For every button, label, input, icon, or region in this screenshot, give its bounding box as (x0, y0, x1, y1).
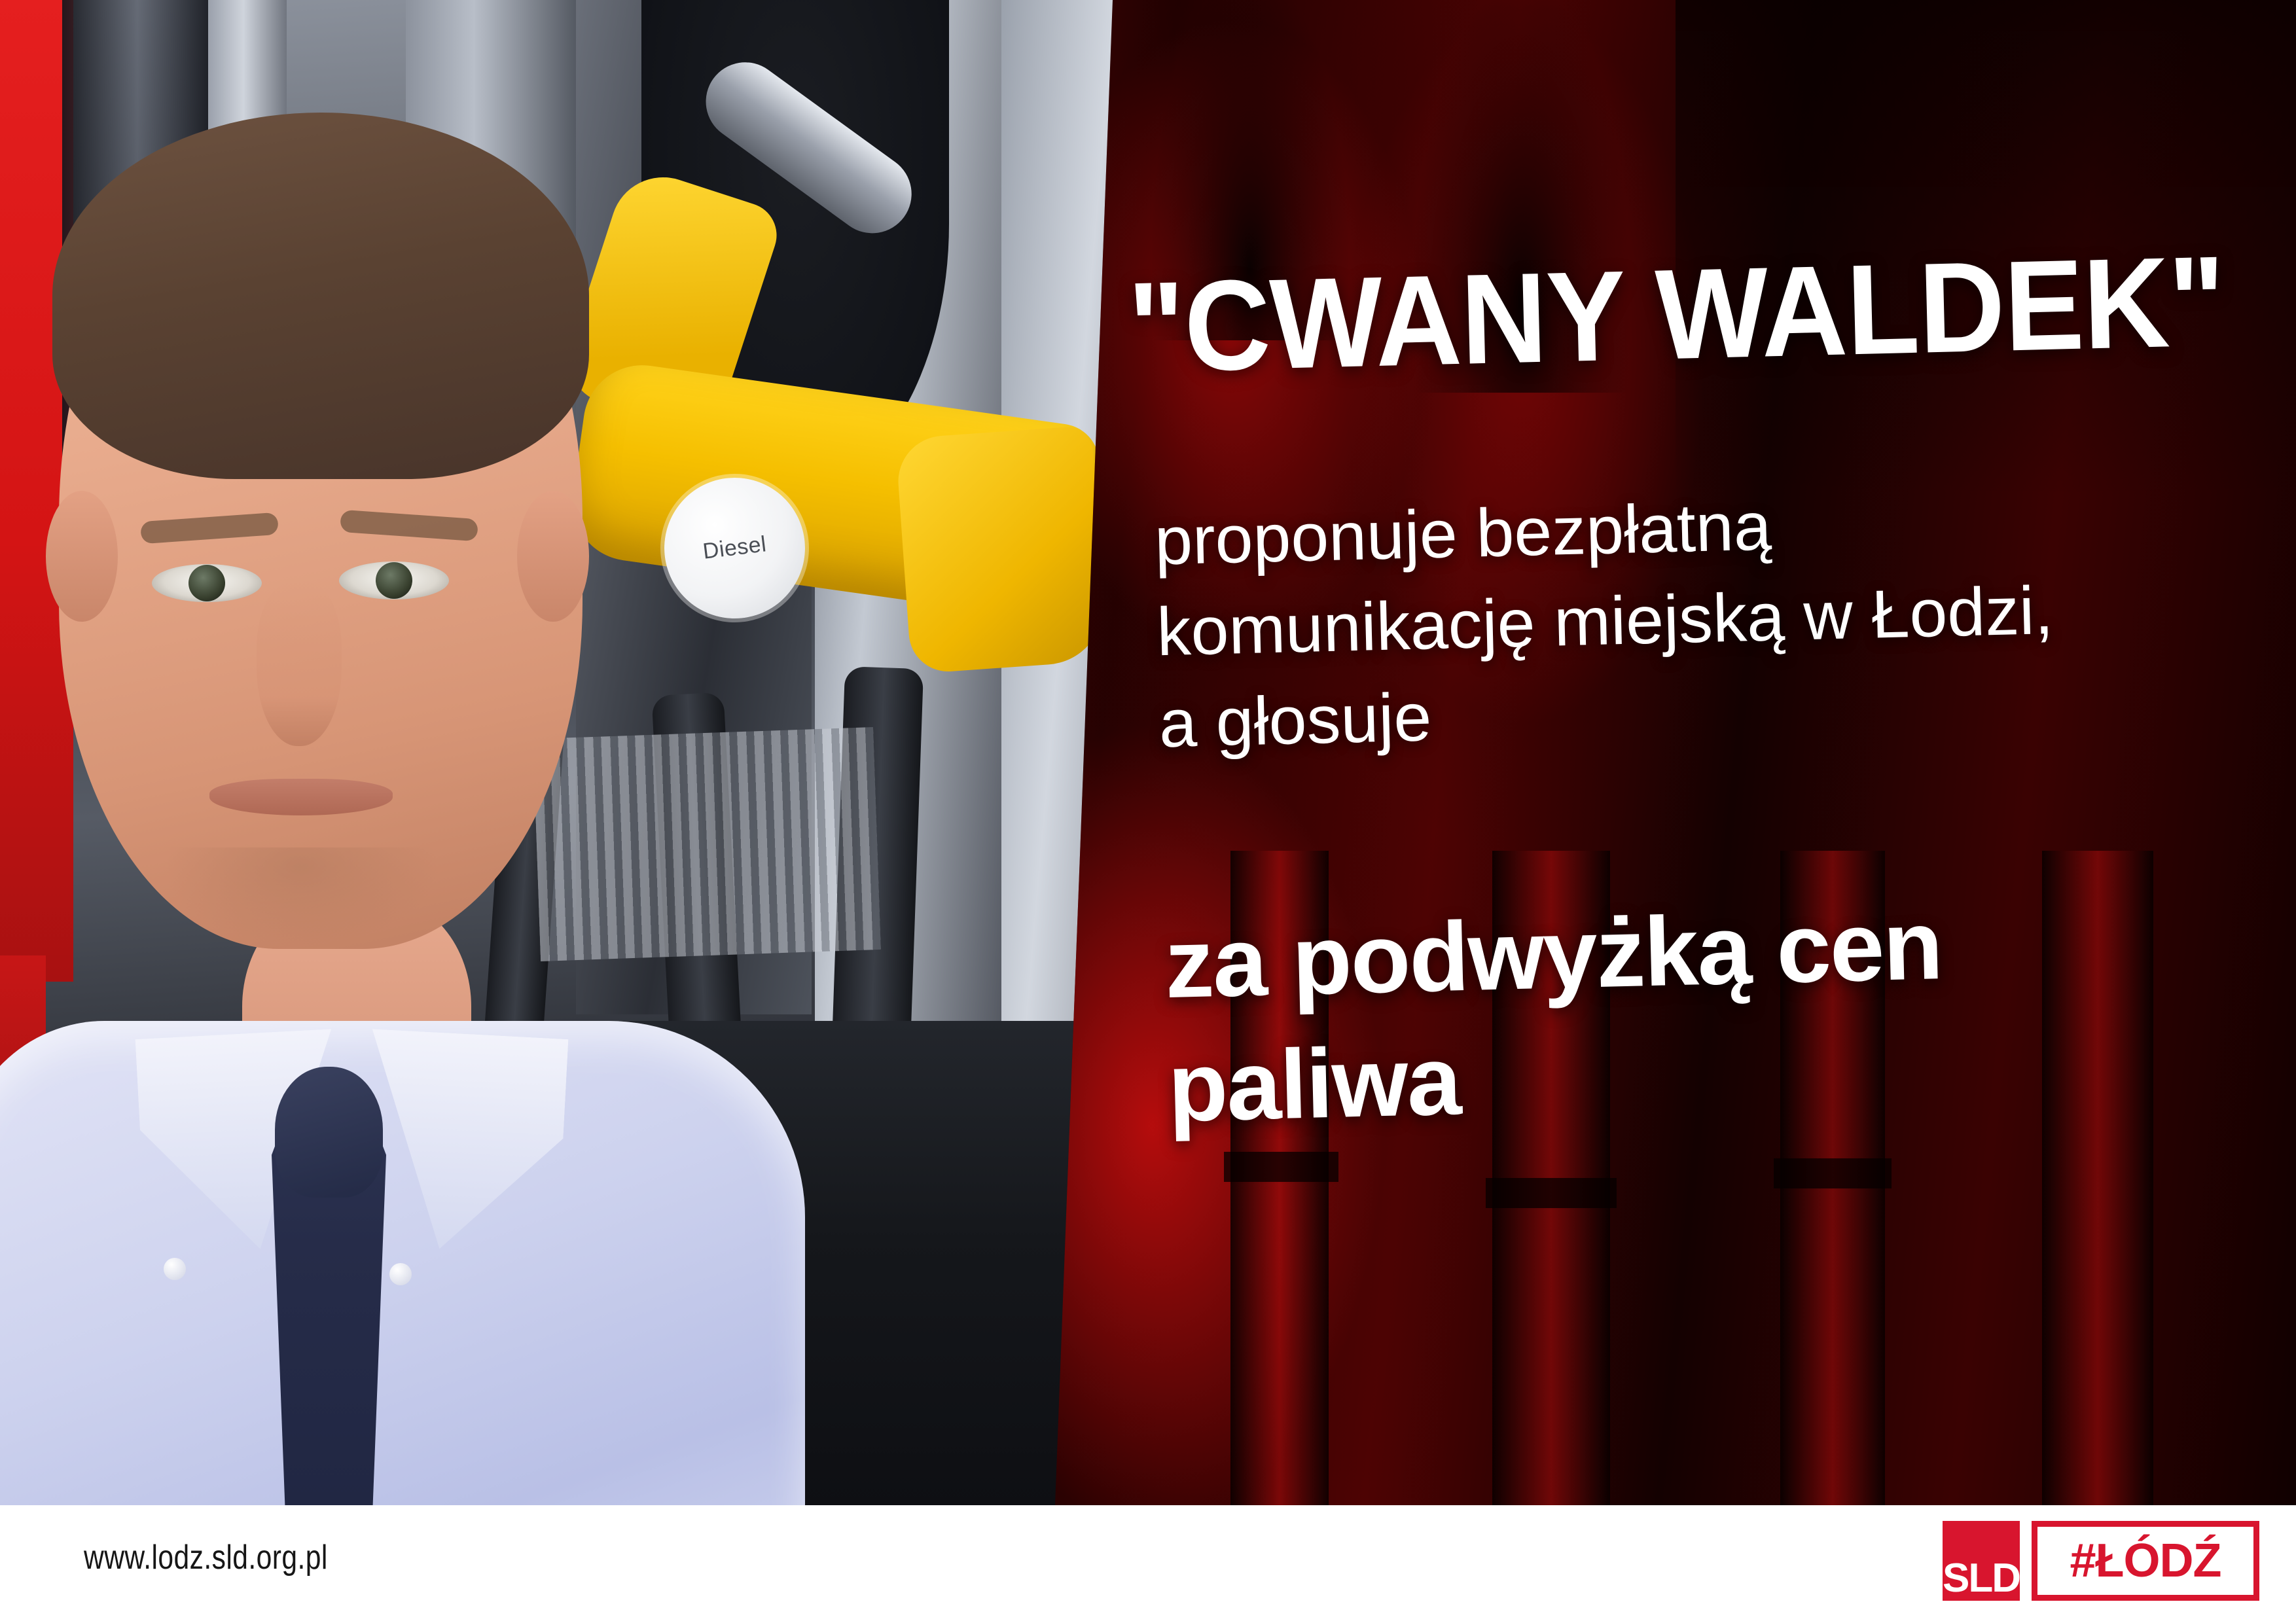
red-pump-silhouette (1152, 0, 1348, 340)
collar-button (164, 1258, 186, 1280)
red-pump-silhouette (1414, 0, 1630, 393)
portrait-chin-shadow (164, 847, 439, 946)
red-pump-band (1774, 1158, 1892, 1188)
portrait-mouth (209, 779, 393, 815)
portrait-nose (257, 582, 342, 746)
portrait-hair (52, 113, 589, 479)
lodz-city-tag-text: #ŁÓDŹ (2070, 1537, 2221, 1584)
campaign-poster: Diesel (0, 0, 2296, 1623)
gas-station-photo: Diesel (0, 0, 1152, 1505)
portrait-cutout (0, 124, 772, 1505)
website-url[interactable]: www.lodz.sld.org.pl (84, 1538, 328, 1577)
portrait-ear-left (46, 491, 118, 622)
sld-lodz-logo: SLD #ŁÓDŹ (1943, 1521, 2259, 1601)
poster-footer: www.lodz.sld.org.pl SLD #ŁÓDŹ (0, 1505, 2296, 1623)
fuel-nozzle-yellow-secondary (895, 425, 1107, 674)
collar-button (389, 1263, 412, 1285)
lodz-city-tag: #ŁÓDŹ (2032, 1521, 2259, 1601)
red-pump-band (1224, 1152, 1338, 1182)
sld-party-mark: SLD (1943, 1521, 2020, 1601)
red-pump-band (1486, 1178, 1617, 1208)
red-panel-vignette (1676, 0, 2296, 497)
sld-party-mark-text: SLD (1943, 1560, 2020, 1598)
poster-photo-area: Diesel (0, 0, 2296, 1505)
portrait-pupil-left (188, 565, 225, 601)
red-pump-column (2042, 851, 2153, 1505)
portrait-pupil-right (376, 562, 412, 599)
portrait-ear-right (517, 491, 589, 622)
necktie-knot (275, 1067, 383, 1198)
